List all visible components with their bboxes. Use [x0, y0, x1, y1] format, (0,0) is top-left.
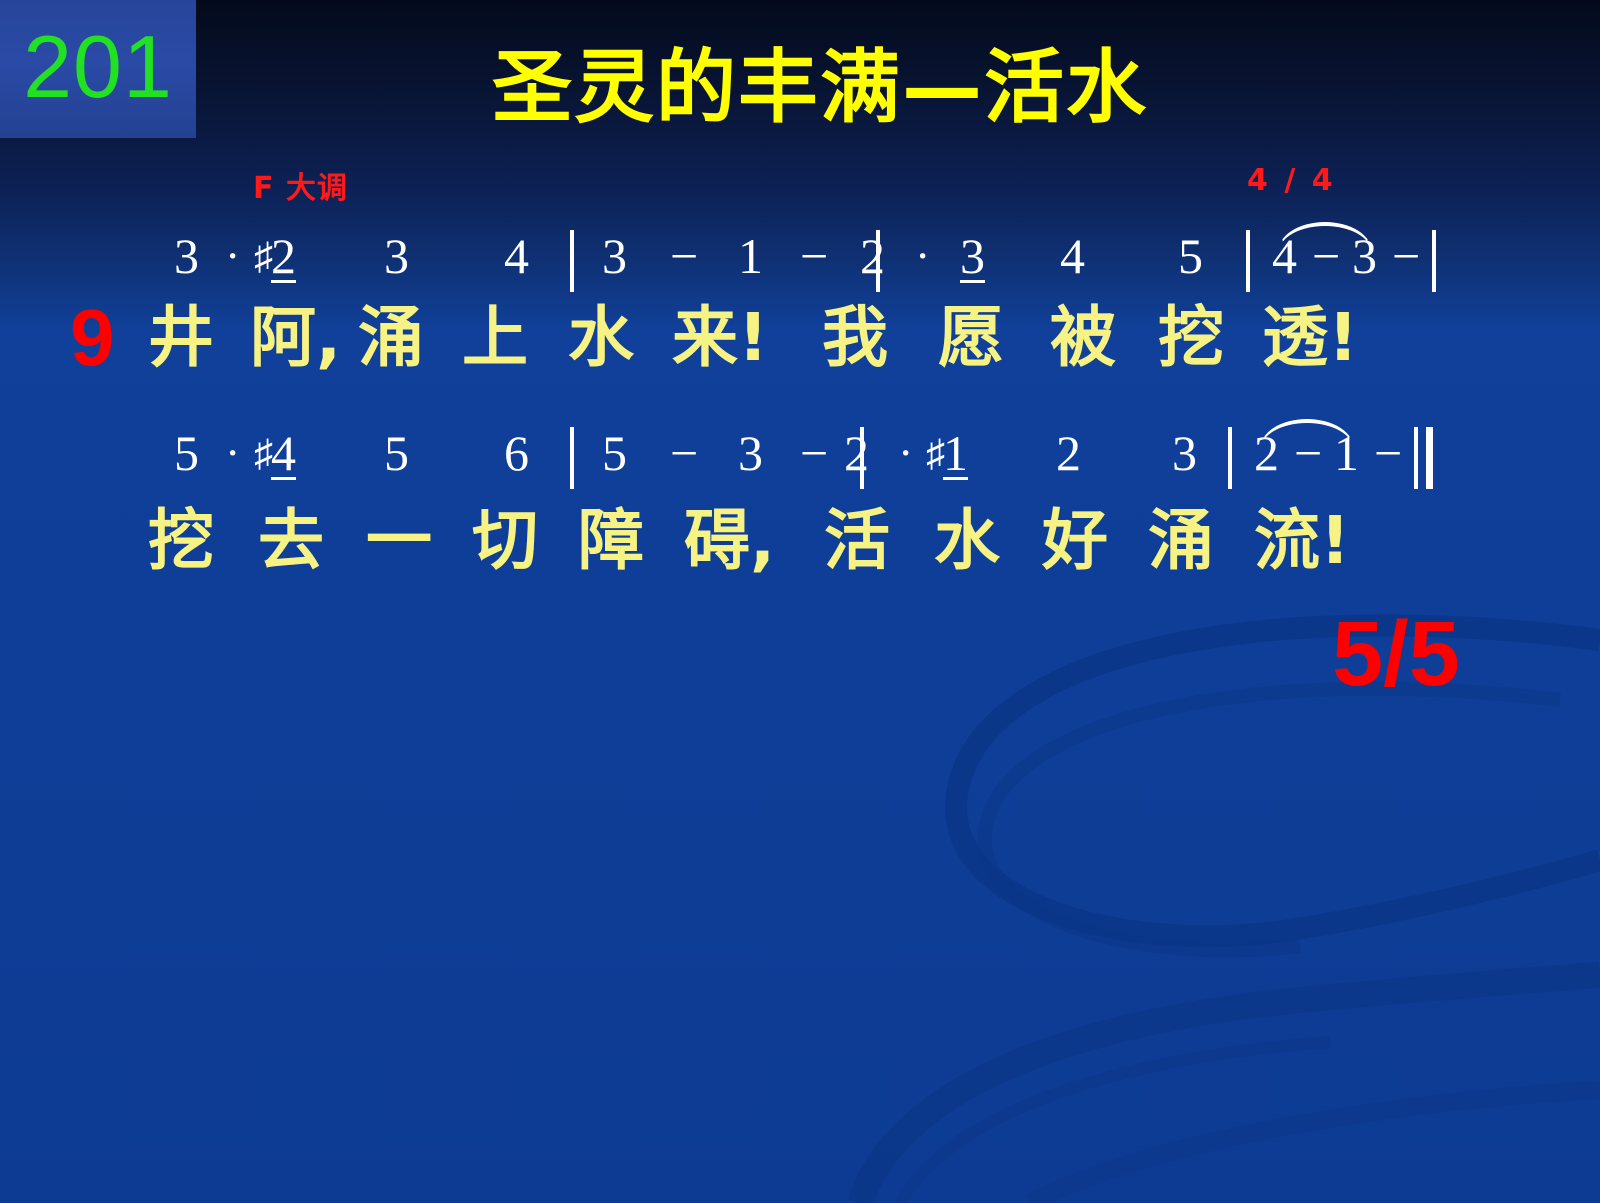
note: 1 — [738, 228, 763, 284]
barline — [1228, 427, 1232, 489]
note: 3 — [1172, 425, 1197, 481]
barline — [570, 230, 574, 292]
note: 5 — [602, 425, 627, 481]
barline — [1432, 230, 1436, 292]
time-signature-label: 4 / 4 — [1247, 163, 1336, 198]
note-underlined: 3 — [960, 228, 985, 284]
lyric-char: 一 — [366, 495, 432, 587]
lyric-char: 井 — [148, 292, 214, 384]
lyric-char: 切 — [472, 495, 538, 587]
notation-line-2: 5 · ♯4 5 6 5 − 3 − 2 · ♯1 2 3 2 − 1 − — [160, 425, 1460, 505]
hymn-slide: 201 圣灵的丰满—活水 F 大调 4 / 4 3 · ♯2 3 4 3 − 1… — [0, 0, 1600, 1203]
lyric-char: 上 — [462, 292, 528, 384]
final-barline-thin — [1414, 427, 1418, 489]
lyric-char: 活 — [824, 495, 890, 587]
note: 3 — [602, 228, 627, 284]
note-value: 3 — [960, 228, 985, 284]
lyric-char: 障 — [578, 495, 644, 587]
note: 4 — [1272, 228, 1297, 284]
note-sharp-underlined: ♯2 — [254, 228, 296, 285]
lyric-char: 挖 — [148, 495, 214, 587]
lyric-char: 水 — [934, 495, 1000, 587]
note: 6 — [504, 425, 529, 481]
augmentation-dot: · — [225, 228, 240, 284]
note: 3 — [738, 425, 763, 481]
barline — [1246, 230, 1250, 292]
note: 3 — [174, 228, 199, 284]
note: 4 — [504, 228, 529, 284]
lyric-char: 我 — [822, 292, 888, 384]
duration-dash: − — [670, 228, 698, 284]
lyric-char: 被 — [1050, 292, 1116, 384]
note-value: 1 — [943, 425, 968, 481]
barline — [570, 427, 574, 489]
duration-dash: − — [800, 425, 828, 481]
duration-dash: − — [800, 228, 828, 284]
note: 4 — [1060, 228, 1085, 284]
lyric-char: 水 — [568, 292, 634, 384]
duration-dash: − — [1392, 228, 1420, 284]
augmentation-dot: · — [225, 425, 240, 481]
note: 5 — [174, 425, 199, 481]
note: 3 — [1352, 228, 1377, 284]
note-value: 2 — [271, 228, 296, 284]
lyric-char: 透! — [1262, 292, 1358, 384]
duration-dash: − — [1294, 425, 1322, 481]
note: 2 — [1254, 425, 1279, 481]
note-value: 4 — [271, 425, 296, 481]
note-sharp-underlined: ♯4 — [254, 425, 296, 482]
lyric-char: 来! — [672, 292, 768, 384]
lyric-char: 愿 — [938, 292, 1004, 384]
lyric-char: 好 — [1042, 495, 1108, 587]
note-sharp-underlined: ♯1 — [926, 425, 968, 482]
note: 3 — [384, 228, 409, 284]
wave-ribbon-decoration — [0, 0, 1600, 1203]
note: 2 — [844, 425, 869, 481]
lyric-char: 碍, — [684, 495, 775, 587]
page-title: 圣灵的丰满—活水 — [0, 46, 1600, 130]
lyric-char: 涌 — [358, 292, 424, 384]
lyric-line-1: 9 井 阿, 涌 上 水 来! 我 愿 被 挖 透! — [0, 292, 1600, 388]
final-barline-thick — [1426, 427, 1433, 489]
augmentation-dot: · — [898, 425, 913, 481]
page-indicator: 5/5 — [1332, 608, 1460, 700]
verse-number: 9 — [70, 292, 115, 384]
duration-dash: − — [670, 425, 698, 481]
duration-dash: − — [1312, 228, 1340, 284]
lyric-char: 挖 — [1158, 292, 1224, 384]
lyric-char: 阿, — [250, 292, 341, 384]
lyric-char: 流! — [1254, 495, 1350, 587]
key-signature-label: F 大调 — [253, 163, 348, 207]
lyric-char: 涌 — [1148, 495, 1214, 587]
note: 2 — [860, 228, 885, 284]
lyric-line-2: 挖 去 一 切 障 碍, 活 水 好 涌 流! — [0, 495, 1600, 591]
note: 1 — [1334, 425, 1359, 481]
lyric-char: 去 — [258, 495, 324, 587]
note: 2 — [1056, 425, 1081, 481]
note: 5 — [1178, 228, 1203, 284]
duration-dash: − — [1374, 425, 1402, 481]
note: 5 — [384, 425, 409, 481]
augmentation-dot: · — [915, 228, 930, 284]
